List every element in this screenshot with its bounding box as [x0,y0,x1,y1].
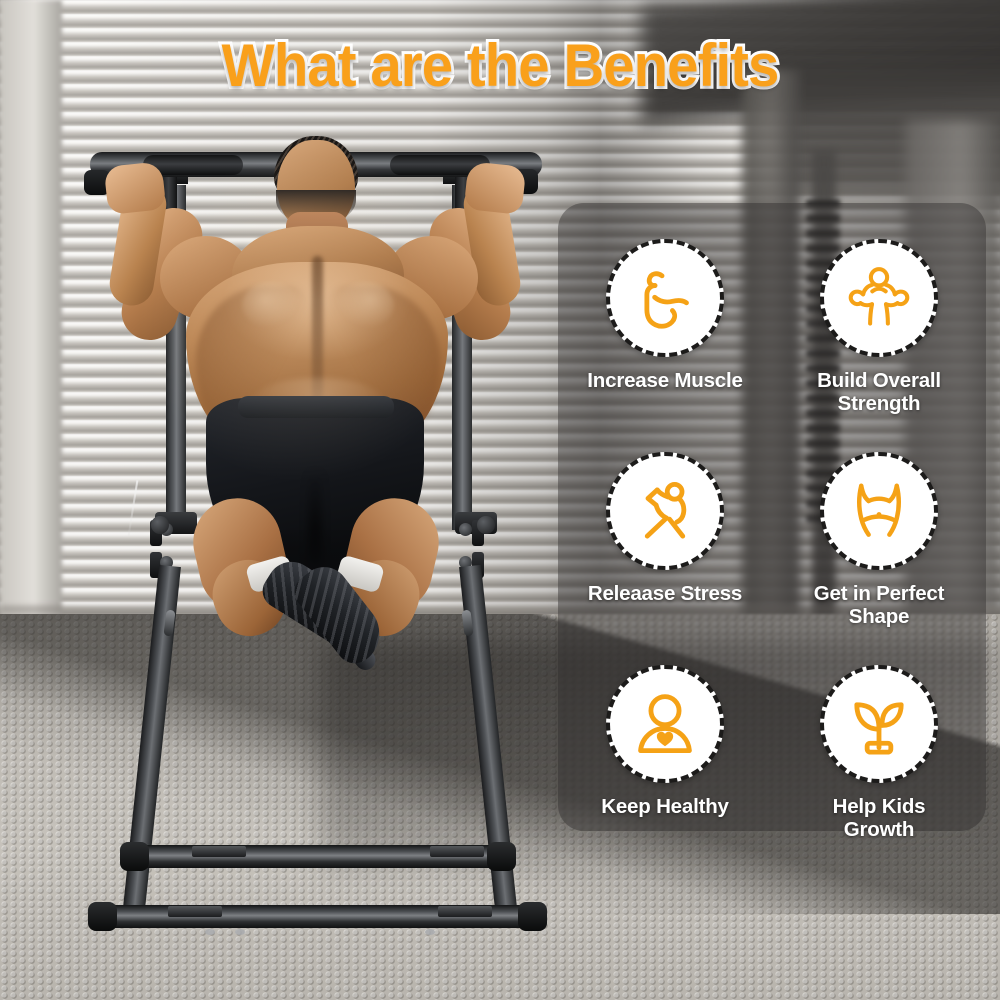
benefit-label-line1: Build Overall [817,369,941,392]
person-with-heart-icon [628,687,702,761]
benefit-label-line2: Strength [838,392,921,415]
marketing-image: What are the Benefits Increase Muscle [0,0,1000,1000]
benefit-label-line2: Growth [844,818,915,841]
benefit-item-keep-healthy[interactable]: Keep Healthy [558,629,772,842]
shorts-waistband [238,396,394,418]
benefit-item-build-overall-strength[interactable]: Build Overall Strength [772,203,986,416]
benefit-label-line1: Help Kids [833,795,926,818]
benefit-label-line1: Get in Perfect [814,582,945,605]
slim-waist-icon [842,474,916,548]
benefit-item-help-kids-growth[interactable]: Help Kids Growth [772,629,986,842]
benefit-icon-circle [606,239,724,357]
benefit-icon-circle [820,665,938,783]
page-title: What are the Benefits [30,36,970,96]
benefit-label: Build Overall Strength [784,370,974,416]
benefit-label: Keep Healthy [570,796,760,819]
scapula-left [242,282,300,328]
strong-bodybuilder-icon [842,261,916,335]
benefits-grid: Increase Muscle [558,203,986,831]
benefit-icon-circle [606,665,724,783]
hand-left-gripping-bar [104,161,167,215]
benefit-icon-circle [606,452,724,570]
benefit-label-line2: Shape [849,605,910,628]
scapula-right [336,282,394,328]
benefit-item-release-stress[interactable]: Releaase Stress [558,416,772,629]
benefit-item-increase-muscle[interactable]: Increase Muscle [558,203,772,416]
benefit-item-get-in-perfect-shape[interactable]: Get in Perfect Shape [772,416,986,629]
flexed-biceps-icon [628,261,702,335]
stretching-person-icon [628,474,702,548]
sprout-plant-icon [842,687,916,761]
hand-right-gripping-bar [464,161,527,215]
benefit-icon-circle [820,452,938,570]
benefit-label: Help Kids Growth [784,796,974,842]
benefit-label: Releaase Stress [570,583,760,606]
benefit-icon-circle [820,239,938,357]
benefit-label: Get in Perfect Shape [784,583,974,629]
benefit-label: Increase Muscle [570,370,760,393]
